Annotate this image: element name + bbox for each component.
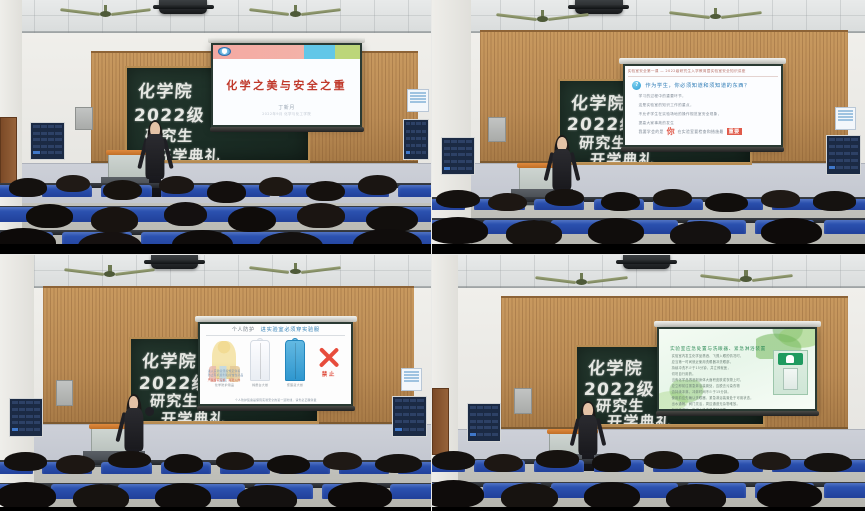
projection-screen: 实验室安全第一课 — 2022级研究生入学教育暨实验室安全知识讲座 ? 作为学生… [623, 64, 783, 148]
ceiling [0, 0, 431, 33]
screen-bottom-bar [656, 411, 819, 416]
ppe-item-label: 棉质白大褂 [243, 383, 278, 387]
ceiling-projector-icon [623, 255, 671, 269]
panel-top-left: 化学院 2022级 研究生 开学典礼 化学之美与安全之重 [0, 0, 432, 255]
letterbox-bar [0, 507, 431, 511]
panel-top-right: 化学院 2022级 研究生 开学典礼 实验室安全第一课 — 2022级研究生入学… [432, 0, 865, 255]
slide-emergency: 实验室应急处置与洗眼器、紧急淋浴装置 实验室内发生化学品溅洒、飞溅入眼的情况时，… [659, 329, 815, 409]
ceiling-fan-icon [267, 5, 323, 23]
electrical-box [56, 380, 73, 406]
lecture-hall-scene: 化学院 2022级 研究生 开学典礼 个人防护 进实验室必须穿实验服 [0, 255, 431, 511]
lecture-hall-scene: 化学院 2022级 研究生 开学典礼 实验室安全第一课 — 2022级研究生入学… [432, 0, 865, 254]
slide-body-paragraphs: 实验室内发生化学品溅洒、飞溅入眼的情况时， 应当第一时间就近使用洗眼器冲洗眼部，… [672, 354, 764, 411]
slide-date-text: 2022年9月 化学与化工学院 [213, 112, 360, 117]
blackboard-line: 化学院 [137, 77, 194, 102]
panel-bottom-left: 化学院 2022级 研究生 开学典礼 个人防护 进实验室必须穿实验服 [0, 255, 432, 511]
letterbox-bar [432, 507, 865, 511]
slide-body-lines: 学习的过程中的重要环节， 这是实验室的知识工作的重点， 不允许学生在实验场地的操… [639, 94, 772, 130]
wall-notice-board [403, 119, 429, 160]
slide-header-row: 个人防护 进实验室必须穿实验服 [200, 326, 351, 334]
ceiling-projector-icon [159, 0, 206, 14]
slide-ppe: 个人防护 进实验室必须穿实验服 化学防护用品 [200, 324, 351, 404]
lab-coat-white-icon [250, 340, 269, 381]
slide-footer-text: 我要学会的是 [639, 129, 664, 135]
projection-screen: 化学之美与安全之重 丁新月 2022年9月 化学与化工学院 [211, 43, 362, 127]
safety-sign-icon [778, 353, 803, 365]
ppe-item-label: 化学防护用品 [206, 383, 243, 387]
letterbox-bar [432, 244, 865, 254]
ceiling-fan-icon [267, 263, 323, 281]
ppe-item-label: 聚酯蓝大褂 [278, 383, 313, 387]
lab-coat-blue-icon [285, 340, 304, 381]
wall-notice-board [30, 122, 64, 160]
projected-slide: 化学之美与安全之重 丁新月 2022年9月 化学与化工学院 [211, 43, 362, 127]
side-note: 防止有机溶剂和腐蚀性药品 [208, 373, 247, 377]
slide-header-right: 进实验室必须穿实验服 [261, 326, 320, 333]
ppe-item: 棉质白大褂 [243, 337, 278, 399]
slide-title: 化学之美与安全之重 丁新月 2022年9月 化学与化工学院 [213, 45, 360, 125]
projection-screen: 个人防护 进实验室必须穿实验服 化学防护用品 [198, 322, 353, 406]
ceiling-projector-icon [151, 255, 198, 269]
letterbox-bar [0, 244, 431, 254]
slide-footer-tail: 在实验室要检查和措施最 [678, 129, 724, 135]
side-note: 严禁穿着短裤、拖鞋入内 [208, 378, 247, 382]
slide-question-text: 作为学生，你必须知道和须知道的东西？ [645, 82, 750, 89]
projected-slide: 个人防护 进实验室必须穿实验服 化学防护用品 [198, 322, 353, 406]
slide-bottom-note: 个人防护装备是保障实验安全的第一道防线，请务必正确穿戴 [200, 398, 351, 402]
electrical-box [488, 117, 505, 142]
wall-poster [835, 107, 857, 130]
slide-question-row: ? 作为学生，你必须知道和须知道的东西？ [632, 81, 750, 90]
electrical-box [75, 107, 92, 130]
slide-side-notes: 进入实验室须按规定穿着 防止有机溶剂和腐蚀性药品 严禁穿着短裤、拖鞋入内 [208, 369, 247, 382]
ceiling-fan-icon [718, 270, 774, 288]
slide-header-text: 实验室安全第一课 — 2022级研究生入学教育暨实验室安全知识讲座 [628, 69, 778, 77]
photo-collage: 化学院 2022级 研究生 开学典礼 化学之美与安全之重 [0, 0, 865, 511]
university-logo-icon [218, 47, 231, 56]
slide-title-text: 化学之美与安全之重 [213, 77, 360, 93]
ceiling-fan-icon [82, 265, 138, 283]
wall-notice-board [392, 396, 426, 437]
panel-bottom-right: 化学院 2022级 研究生 开学典礼 实验室应急处置与洗眼器、紧急淋浴装置 实验… [432, 255, 865, 511]
red-cross-icon [318, 345, 339, 370]
slide-divider [206, 335, 345, 336]
ceiling [432, 0, 865, 33]
shower-unit-icon [783, 368, 799, 390]
audience-seating [0, 444, 431, 511]
ceiling-fan-icon [78, 5, 134, 23]
wall-notice-board [826, 135, 861, 176]
wall-notice-board [441, 137, 476, 175]
slide-line: 使用前应先确认洗眼器、紧急淋浴装置处于可用状态， [672, 396, 764, 402]
slide-title-text: 实验室应急处置与洗眼器、紧急淋浴装置 [670, 346, 766, 352]
emergency-shower-image [773, 350, 807, 395]
wall-poster [407, 89, 429, 112]
ppe-item-forbidden: 禁止 [312, 337, 345, 399]
slide-footer-highlight: 重要 [727, 128, 742, 135]
audience-seating [0, 168, 431, 254]
slide-line: 不允许学生在实验场地的操作规范室安全现象， [639, 112, 772, 117]
wall-notice-board [9, 398, 43, 436]
screen-bottom-bar [210, 127, 364, 132]
ceiling-fan-icon [687, 8, 743, 26]
slide-footer-row: 我要学会的是 你 在实验室要检查和措施最 重要 [639, 126, 772, 137]
slide-line: 学习的过程中的重要环节， [639, 94, 772, 99]
audience-seating [432, 444, 865, 511]
projection-screen: 实验室应急处置与洗眼器、紧急淋浴装置 实验室内发生化学品溅洒、飞溅入眼的情况时，… [657, 327, 817, 411]
ceiling [0, 255, 431, 288]
slide-footer-emphasis: 你 [667, 126, 675, 137]
projected-slide: 实验室应急处置与洗眼器、紧急淋浴装置 实验室内发生化学品溅洒、飞溅入眼的情况时，… [657, 327, 817, 411]
wall-poster [401, 368, 423, 391]
slide-bullets: 实验室安全第一课 — 2022级研究生入学教育暨实验室安全知识讲座 ? 作为学生… [625, 66, 781, 146]
lecture-hall-scene: 化学院 2022级 研究生 开学典礼 实验室应急处置与洗眼器、紧急淋浴装置 实验… [432, 255, 865, 511]
ppe-item: 聚酯蓝大褂 [278, 337, 313, 399]
ceiling-fan-icon [514, 10, 570, 28]
forbidden-label: 禁止 [312, 372, 345, 379]
question-marker-icon: ? [632, 81, 641, 90]
lecture-hall-scene: 化学院 2022级 研究生 开学典礼 化学之美与安全之重 [0, 0, 431, 254]
screen-bottom-bar [197, 406, 355, 411]
slide-line: 这是实验室的知识工作的重点， [639, 103, 772, 108]
screen-bottom-bar [621, 147, 784, 152]
slide-header-left: 个人防护 [232, 326, 255, 333]
projected-slide: 实验室安全第一课 — 2022级研究生入学教育暨实验室安全知识讲座 ? 作为学生… [623, 64, 783, 148]
electrical-box [514, 388, 531, 414]
ceiling-projector-icon [575, 0, 623, 14]
slide-header-band [213, 45, 360, 59]
slide-author-text: 丁新月 [213, 104, 360, 111]
wall-notice-board [467, 403, 502, 441]
